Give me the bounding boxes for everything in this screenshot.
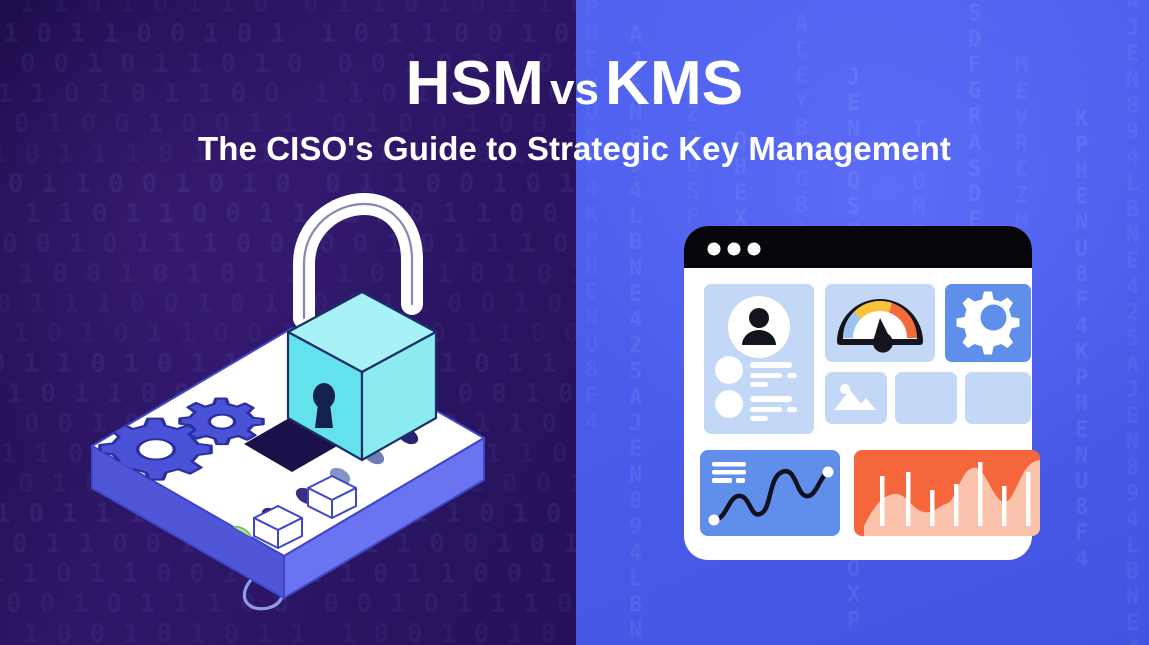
profile-card[interactable] — [704, 284, 814, 434]
window-dot-maximize — [748, 243, 761, 256]
page-subtitle: The CISO's Guide to Strategic Key Manage… — [0, 130, 1149, 168]
poster-canvas: 0 1 1 0 1 0 1 1 0 0 1 1 0 1 0 1 1 0 0 1 … — [0, 0, 1149, 645]
blank-tile-b[interactable] — [965, 372, 1031, 424]
image-tile[interactable] — [825, 372, 887, 424]
traffic-light-dots — [708, 243, 761, 256]
settings-card[interactable] — [945, 284, 1031, 362]
bar-area-chart-card[interactable] — [854, 450, 1042, 536]
line-chart-card[interactable] — [700, 450, 840, 536]
page-title: HSMvsKMS — [0, 52, 1149, 116]
title-secondary: KMS — [605, 49, 743, 118]
dashboard-illustration — [672, 214, 1042, 589]
line-point-start — [709, 515, 720, 526]
title-primary: HSM — [406, 49, 544, 118]
gear-icon — [957, 292, 1020, 355]
gauge-widget[interactable] — [825, 284, 935, 362]
headline-block: HSMvsKMS The CISO's Guide to Strategic K… — [0, 52, 1149, 168]
blank-tile-a[interactable] — [895, 372, 957, 424]
padlock-icon — [288, 204, 436, 460]
hsm-device-svg — [78, 188, 498, 618]
chart-legend-bars — [712, 462, 746, 483]
hsm-device-illustration — [78, 188, 498, 623]
window-dot-minimize — [728, 243, 741, 256]
window-dot-close — [708, 243, 721, 256]
line-point-end — [823, 467, 834, 478]
title-separator: vs — [544, 65, 605, 114]
dashboard-svg — [672, 214, 1042, 584]
